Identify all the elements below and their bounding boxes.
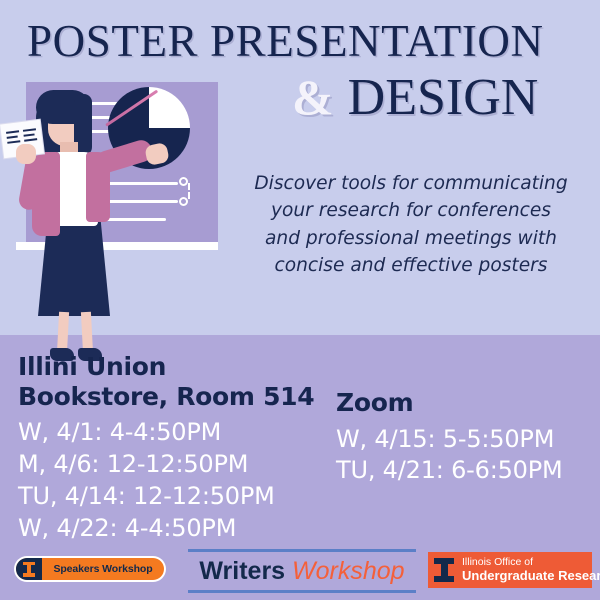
poster-canvas: POSTER PRESENTATION &DESIGN Discover too… xyxy=(0,0,600,600)
presenter-illustration xyxy=(0,60,240,340)
writers-rule-top xyxy=(188,549,416,552)
session-item: TU, 4/21: 6-6:50PM xyxy=(336,455,586,487)
writers-workshop-logo[interactable]: Writers Workshop xyxy=(188,549,416,593)
description-line-4: concise and effective posters xyxy=(228,252,594,279)
description-line-3: and professional meetings with xyxy=(228,225,594,252)
uor-line-1: Illinois Office of xyxy=(462,557,600,569)
schedule-column-in-person: Illini Union Bookstore, Room 514 W, 4/1:… xyxy=(18,352,328,545)
schedule-column-zoom: Zoom W, 4/15: 5-5:50PM TU, 4/21: 6-6:50P… xyxy=(336,388,586,487)
writers-word: Writers xyxy=(199,557,285,585)
illinois-block-i-icon xyxy=(16,558,42,580)
session-item: W, 4/1: 4-4:50PM xyxy=(18,417,328,449)
board-marker-d-icon xyxy=(179,197,188,206)
speakers-workshop-label: Speakers Workshop xyxy=(42,563,164,575)
speakers-workshop-pill: Speakers Workshop xyxy=(16,558,164,580)
undergraduate-research-text: Illinois Office of Undergraduate Researc… xyxy=(462,557,600,583)
location-illini-union-line1: Illini Union xyxy=(18,352,328,382)
workshop-word: Workshop xyxy=(292,557,405,585)
poster-description: Discover tools for communicating your re… xyxy=(228,170,594,279)
illinois-block-i-icon xyxy=(433,556,455,584)
poster-title-line1: POSTER PRESENTATION xyxy=(27,18,587,65)
ampersand-glyph: & xyxy=(292,69,334,125)
poster-title-line2: &DESIGN xyxy=(292,72,538,124)
speakers-workshop-logo[interactable]: Speakers Workshop xyxy=(14,556,166,582)
description-line-1: Discover tools for communicating xyxy=(228,170,594,197)
poster-title-design-word: DESIGN xyxy=(348,69,539,126)
undergraduate-research-logo[interactable]: Illinois Office of Undergraduate Researc… xyxy=(428,552,592,588)
location-illini-union-line2: Bookstore, Room 514 xyxy=(18,382,328,412)
session-item: W, 4/15: 5-5:50PM xyxy=(336,424,586,456)
writers-workshop-wordmark: Writers Workshop xyxy=(188,557,416,585)
session-item: W, 4/22: 4-4:50PM xyxy=(18,513,328,545)
session-item: M, 4/6: 12-12:50PM xyxy=(18,449,328,481)
session-item: TU, 4/14: 12-12:50PM xyxy=(18,481,328,513)
session-list-in-person: W, 4/1: 4-4:50PM M, 4/6: 12-12:50PM TU, … xyxy=(18,417,328,545)
presenter-hand-lowered xyxy=(16,144,36,164)
uor-line-2: Undergraduate Research xyxy=(462,569,600,584)
writers-rule-bottom xyxy=(188,590,416,593)
description-line-2: your research for conferences xyxy=(228,197,594,224)
location-zoom: Zoom xyxy=(336,388,586,418)
board-marker-p-icon xyxy=(179,177,188,186)
session-list-zoom: W, 4/15: 5-5:50PM TU, 4/21: 6-6:50PM xyxy=(336,424,586,488)
